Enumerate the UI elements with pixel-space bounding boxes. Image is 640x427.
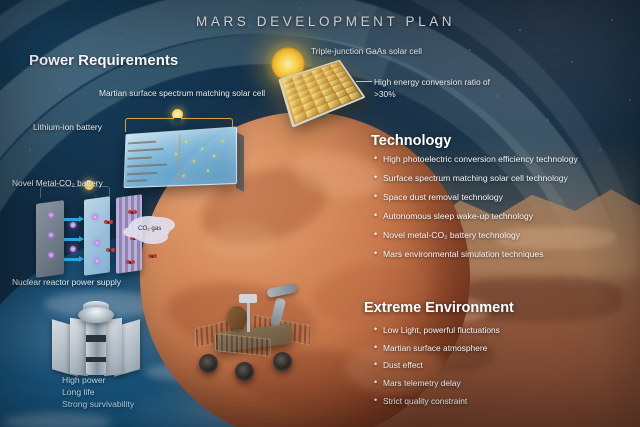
list-item: High photoelectric conversion efficiency…	[374, 154, 578, 165]
extreme-environment-list: Low Light, powerful fluctuationsMartian …	[374, 325, 500, 413]
list-item: Space dust removal technology	[374, 192, 578, 203]
list-item: Mars environmental simulation techniques	[374, 249, 578, 260]
mars-rover-illustration	[195, 270, 325, 390]
lithium-ion-battery-illustration	[124, 126, 238, 188]
list-item: Autonomous sleep wake-up technology	[374, 211, 578, 222]
heading-extreme-environment: Extreme Environment	[364, 300, 514, 316]
label-spectrum-matching-solar-cell: Martian surface spectrum matching solar …	[99, 88, 265, 98]
list-item: Novel metal-CO₂ battery technology	[374, 230, 578, 241]
nuclear-benefit-item: High power	[62, 375, 134, 387]
list-item: Strict quality constraint	[374, 396, 500, 407]
light-bulb-base	[174, 118, 181, 123]
page-title: MARS DEVELOPMENT PLAN	[196, 14, 455, 29]
lithium-battery-side	[236, 132, 244, 192]
heading-power-requirements: Power Requirements	[29, 52, 178, 69]
nuclear-benefit-item: Long life	[62, 387, 134, 399]
nuclear-benefit-item: Strong survivability	[62, 399, 134, 411]
nuclear-reactor-illustration	[48, 293, 144, 385]
list-item: Low Light, powerful fluctuations	[374, 325, 500, 336]
leader-line-conversion	[356, 81, 372, 82]
label-novel-metal-co2-battery: Novel Metal-CO₂ battery	[12, 178, 103, 188]
list-item: Dust effect	[374, 360, 500, 371]
co2-gas-label: CO₂ gas	[138, 225, 161, 232]
list-item: Surface spectrum matching solar cell tec…	[374, 173, 578, 184]
list-item: Mars telemetry delay	[374, 378, 500, 389]
nuclear-benefits-list: High powerLong lifeStrong survivability	[62, 375, 134, 411]
label-energy-conversion-ratio: High energy conversion ratio of >30%	[374, 76, 494, 100]
list-item: Martian surface atmosphere	[374, 343, 500, 354]
label-triple-junction-solar-cell: Triple-junction GaAs solar cell	[311, 46, 422, 56]
technology-list: High photoelectric conversion efficiency…	[374, 154, 578, 268]
label-nuclear-reactor-power-supply: Nuclear reactor power supply	[12, 277, 121, 287]
mars-development-plan-poster: CO₂ gas MARS DEVELOPMENT PLAN Power Requ…	[0, 0, 640, 427]
label-lithium-ion-battery: Lithium-ion battery	[33, 122, 102, 132]
heading-technology: Technology	[371, 133, 451, 149]
